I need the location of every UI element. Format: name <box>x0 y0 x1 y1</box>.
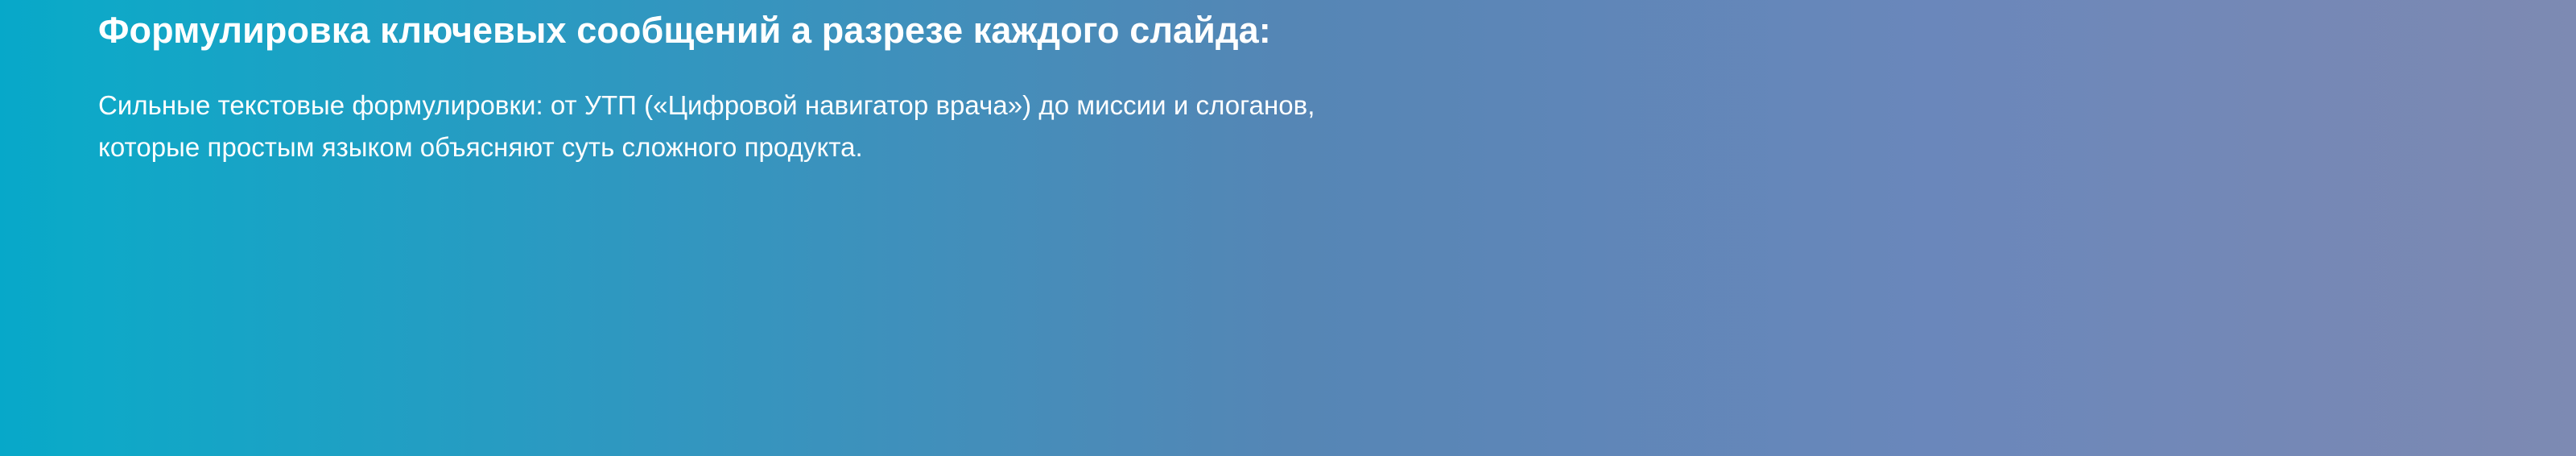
slide-content: Формулировка ключевых сообщений а разрез… <box>98 0 2513 168</box>
slide-body-text: Сильные текстовые формулировки: от УТП (… <box>98 54 2433 168</box>
body-line-2: которые простым языком объясняют суть сл… <box>98 126 2433 168</box>
slide-canvas: Формулировка ключевых сообщений а разрез… <box>0 0 2576 456</box>
body-line-1: Сильные текстовые формулировки: от УТП (… <box>98 85 2433 126</box>
slide-title: Формулировка ключевых сообщений а разрез… <box>98 0 2513 54</box>
